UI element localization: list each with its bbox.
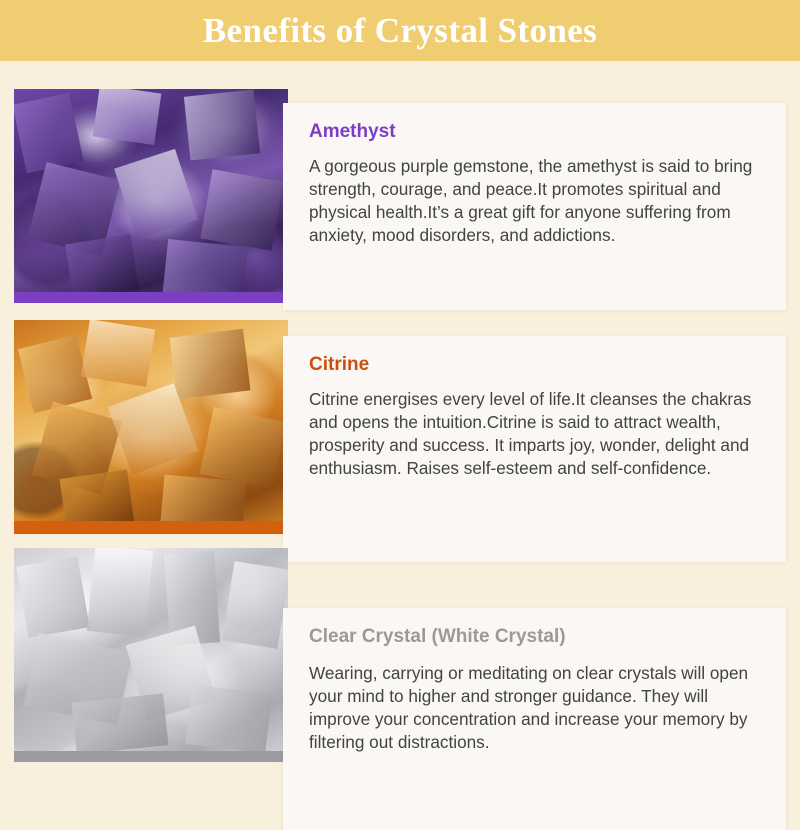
crystal-facet [186, 685, 273, 754]
crystal-facet [169, 329, 250, 400]
clear-crystal-photo-surface [14, 548, 288, 762]
crystal-facet [86, 548, 153, 637]
crystal-facet [65, 234, 139, 300]
section-clear-crystal: Clear Crystal (White Crystal) Wearing, c… [0, 548, 800, 772]
crystal-facet [81, 320, 155, 387]
crystal-facet [72, 693, 169, 754]
clear-crystal-accent-bar [14, 751, 288, 762]
section-amethyst: Amethyst A gorgeous purple gemstone, the… [0, 89, 800, 313]
crystal-facet [93, 89, 162, 145]
amethyst-title: Amethyst [309, 122, 764, 143]
citrine-crystal-photo [14, 320, 288, 534]
amethyst-card: Amethyst A gorgeous purple gemstone, the… [283, 103, 786, 310]
section-citrine: Citrine Citrine energises every level of… [0, 320, 800, 544]
citrine-photo-surface [14, 320, 288, 534]
amethyst-crystal-photo [14, 89, 288, 303]
crystal-facet [114, 149, 198, 239]
crystal-facet [183, 90, 259, 161]
clear-crystal-photo [14, 548, 288, 762]
amethyst-photo-surface [14, 89, 288, 303]
citrine-body: Citrine energises every level of life.It… [309, 388, 764, 480]
citrine-title: Citrine [309, 355, 764, 376]
amethyst-accent-bar [14, 292, 288, 303]
citrine-card: Citrine Citrine energises every level of… [283, 336, 786, 562]
amethyst-body: A gorgeous purple gemstone, the amethyst… [309, 155, 764, 247]
clear-crystal-card: Clear Crystal (White Crystal) Wearing, c… [283, 608, 786, 830]
clear-crystal-title: Clear Crystal (White Crystal) [309, 627, 764, 648]
crystal-facet [200, 169, 283, 250]
page-title: Benefits of Crystal Stones [203, 13, 597, 48]
page-header: Benefits of Crystal Stones [0, 0, 800, 61]
page-body: Amethyst A gorgeous purple gemstone, the… [0, 61, 800, 800]
crystal-facet [200, 407, 287, 489]
clear-crystal-body: Wearing, carrying or meditating on clear… [309, 662, 764, 754]
crystal-facet [222, 561, 288, 649]
citrine-accent-bar [14, 521, 288, 534]
crystal-facet [14, 92, 84, 173]
crystal-facet [16, 556, 90, 638]
